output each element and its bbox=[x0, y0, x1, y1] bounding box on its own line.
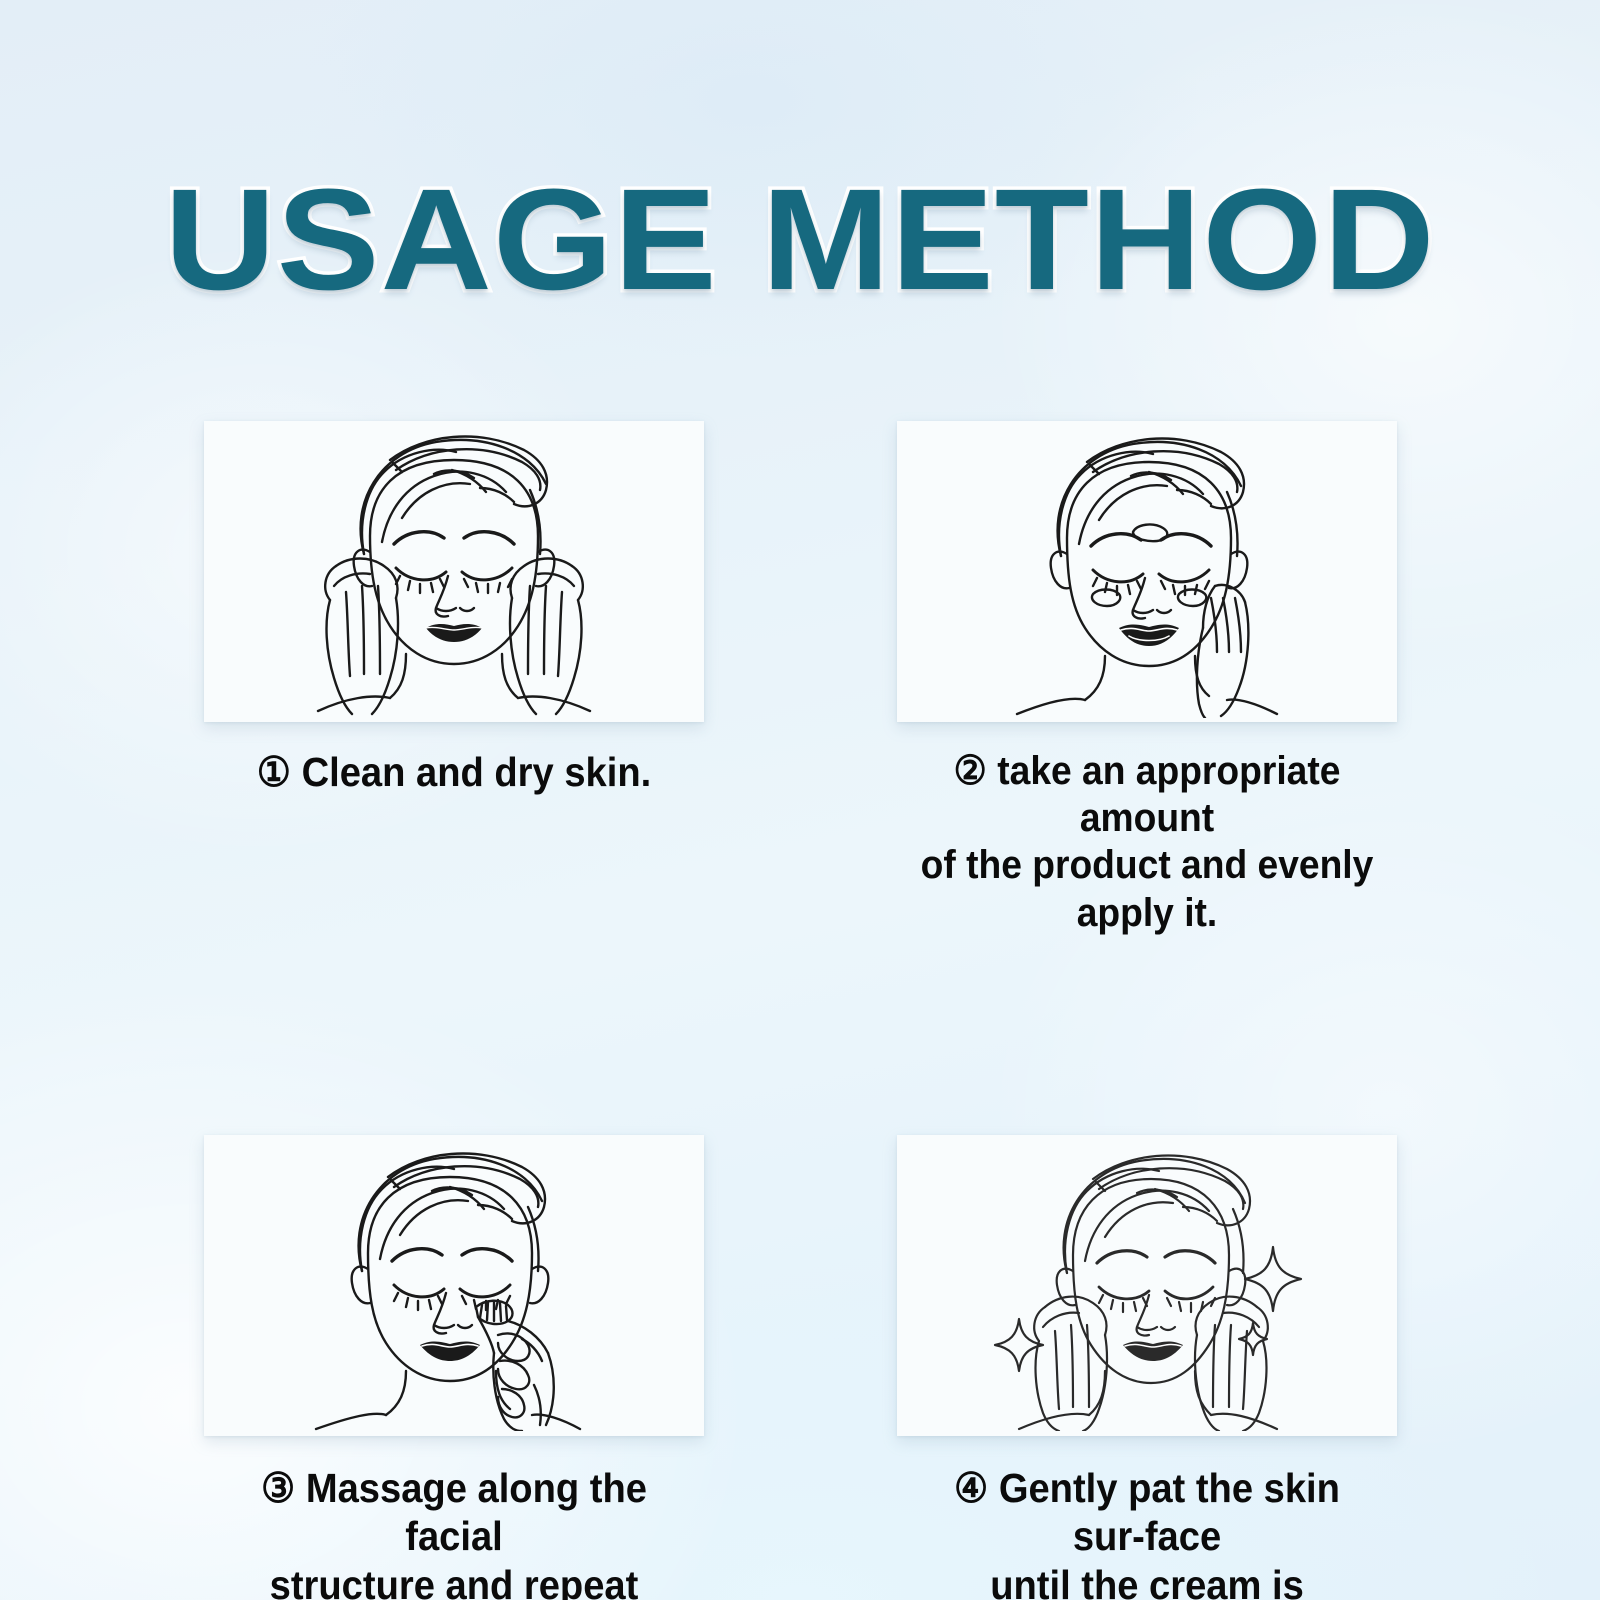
step-3-image-card bbox=[204, 1135, 704, 1436]
step-4-image-card bbox=[897, 1135, 1397, 1436]
illustration-massage-facial-structure-icon bbox=[294, 1139, 614, 1431]
page-title-container: USAGE METHOD bbox=[0, 168, 1600, 312]
illustration-pat-skin-absorbed-icon bbox=[977, 1139, 1317, 1431]
step-2-image-card bbox=[897, 421, 1397, 722]
step-4: ④ Gently pat the skin sur-face until the… bbox=[897, 1135, 1397, 1600]
step-4-caption: ④ Gently pat the skin sur-face until the… bbox=[914, 1464, 1379, 1600]
usage-method-poster: USAGE METHOD bbox=[0, 0, 1600, 1600]
step-3-caption: ③ Massage along the facial structure and… bbox=[221, 1464, 686, 1600]
step-2-caption: ② take an appropriate amount of the prod… bbox=[914, 748, 1379, 937]
step-1: ① Clean and dry skin. bbox=[204, 421, 704, 937]
steps-grid: ① Clean and dry skin. bbox=[0, 421, 1600, 1600]
page-title: USAGE METHOD bbox=[164, 168, 1435, 312]
step-1-caption: ① Clean and dry skin. bbox=[221, 748, 686, 796]
illustration-clean-and-dry-skin-icon bbox=[284, 426, 624, 718]
steps-row-1: ① Clean and dry skin. bbox=[0, 421, 1600, 937]
steps-row-2: ③ Massage along the facial structure and… bbox=[0, 1135, 1600, 1600]
step-3: ③ Massage along the facial structure and… bbox=[204, 1135, 704, 1600]
illustration-apply-product-icon bbox=[987, 426, 1307, 718]
step-1-image-card bbox=[204, 421, 704, 722]
step-2: ② take an appropriate amount of the prod… bbox=[897, 421, 1397, 937]
